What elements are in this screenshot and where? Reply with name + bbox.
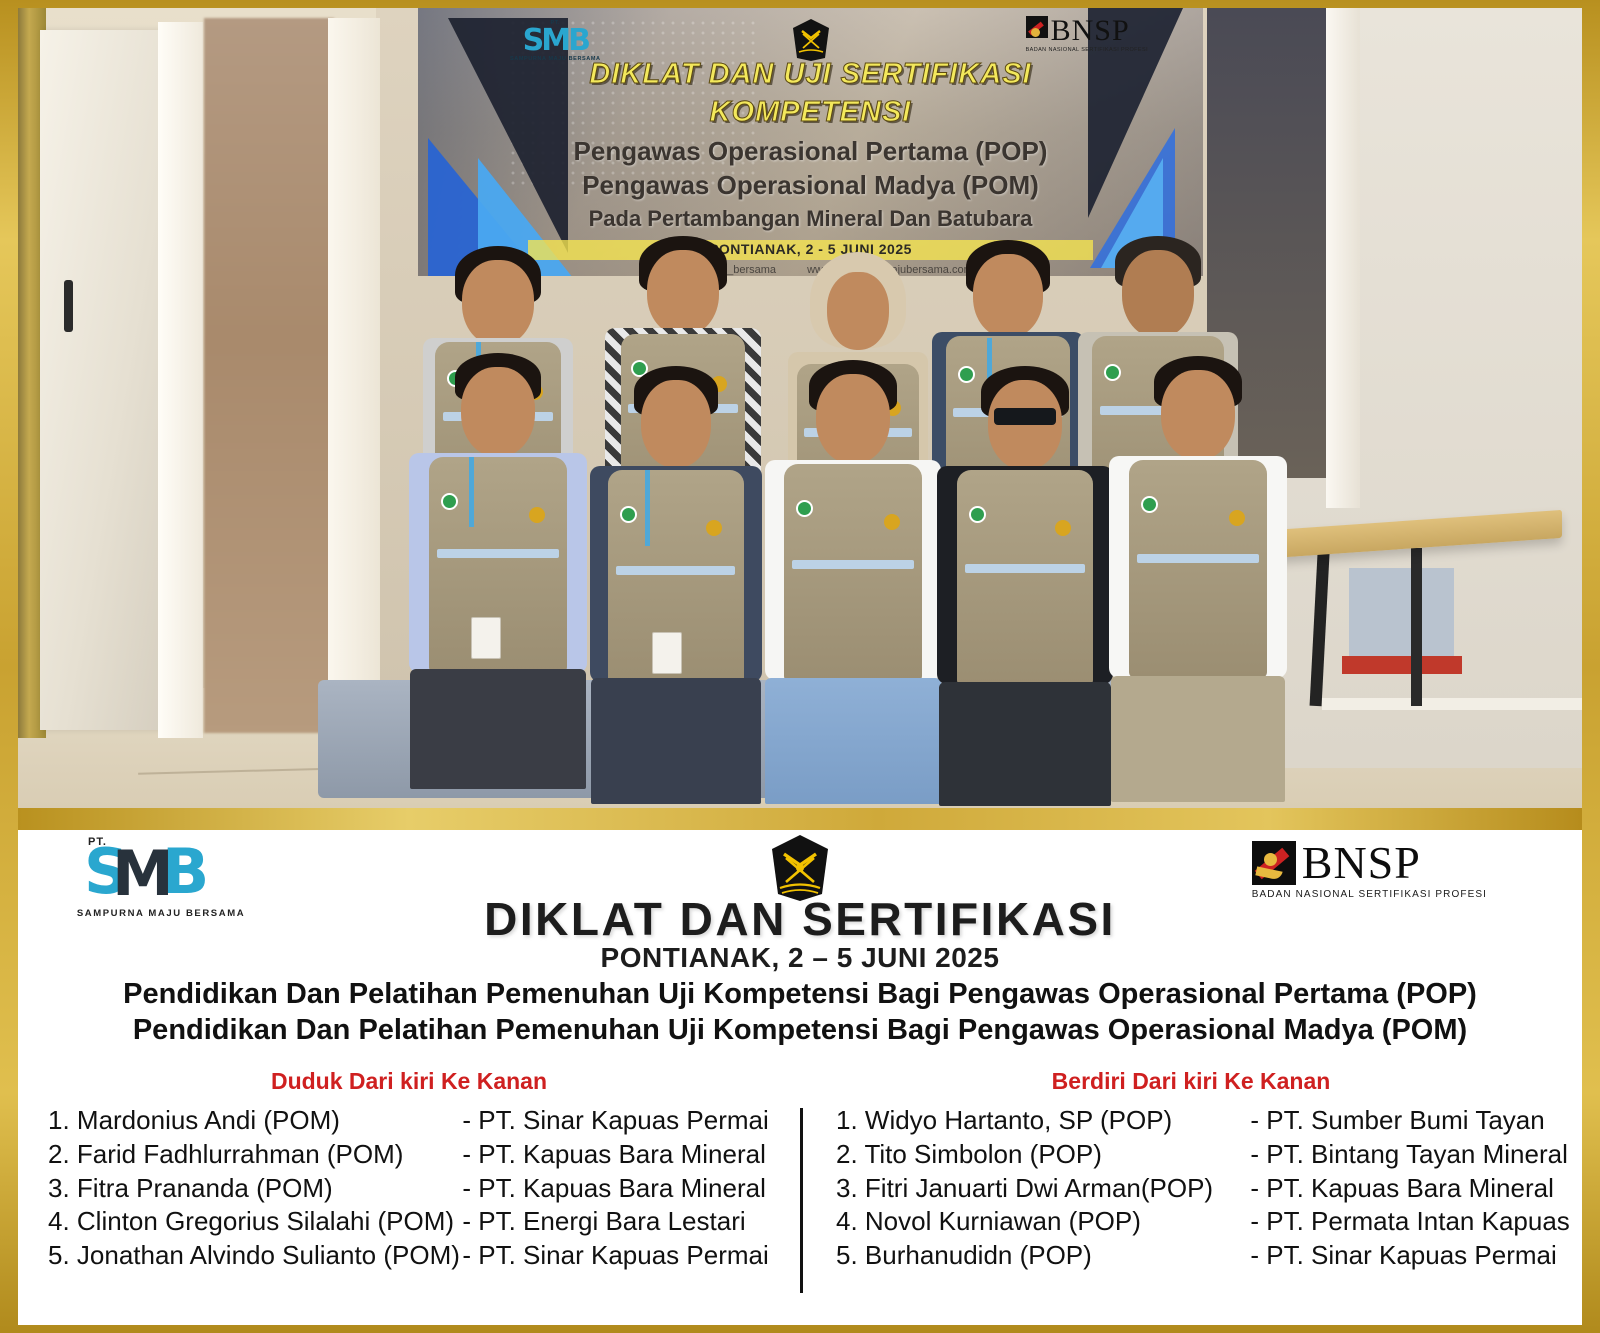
- participant-company: - PT. Permata Intan Kapuas: [1250, 1205, 1576, 1239]
- participant-name: 5. Jonathan Alvindo Sulianto (POM): [48, 1239, 462, 1273]
- vest-reflective-stripe: [437, 549, 558, 558]
- head: [816, 374, 890, 464]
- trousers: [410, 669, 586, 789]
- participant-row: 3. Fitri Januarti Dwi Arman(POP)- PT. Ka…: [836, 1172, 1576, 1206]
- seated-names-list: 1. Mardonius Andi (POM)- PT. Sinar Kapua…: [48, 1104, 788, 1273]
- vest-emblem-badge: [529, 507, 545, 523]
- participant-row: 5. Burhanudidn (POP)- PT. Sinar Kapuas P…: [836, 1239, 1576, 1273]
- poster-root: PT. SMB SAMPURNA MAJU BERSAMA BNSP BADAN…: [0, 0, 1600, 1333]
- info-panel: PT. S B M SAMPURNA MAJU BERSAMA: [18, 830, 1582, 1325]
- vest-emblem-badge: [1229, 510, 1245, 526]
- participant-row: 2. Tito Simbolon (POP)- PT. Bintang Taya…: [836, 1138, 1576, 1172]
- vest-reflective-stripe: [616, 566, 736, 575]
- participant-row: 5. Jonathan Alvindo Sulianto (POM)- PT. …: [48, 1239, 788, 1273]
- vest-emblem-badge: [706, 520, 722, 536]
- head: [988, 380, 1062, 470]
- vest: [1129, 460, 1267, 678]
- sunglasses-icon: [994, 408, 1056, 425]
- gold-divider-band: [18, 808, 1582, 830]
- group-photo: PT. SMB SAMPURNA MAJU BERSAMA BNSP BADAN…: [18, 8, 1582, 808]
- participant-name: 2. Farid Fadhlurrahman (POM): [48, 1138, 462, 1172]
- trousers: [939, 682, 1111, 806]
- participant-name: 1. Mardonius Andi (POM): [48, 1104, 462, 1138]
- participant-name: 3. Fitra Prananda (POM): [48, 1172, 462, 1206]
- participant-company: - PT. Kapuas Bara Mineral: [462, 1172, 788, 1206]
- head: [1122, 250, 1194, 338]
- participant-company: - PT. Energi Bara Lestari: [462, 1205, 788, 1239]
- head: [827, 272, 889, 350]
- bnsp-gold-tail: [1255, 866, 1282, 880]
- head: [1161, 370, 1235, 460]
- vest-green-badge: [441, 493, 458, 510]
- vest: [429, 457, 567, 673]
- vest: [608, 470, 744, 684]
- participant-row: 4. Novol Kurniawan (POP)- PT. Permata In…: [836, 1205, 1576, 1239]
- participant-name: 5. Burhanudidn (POP): [836, 1239, 1250, 1273]
- vest-reflective-stripe: [1137, 554, 1258, 563]
- seated-person-5: [1103, 356, 1293, 776]
- head: [641, 380, 711, 468]
- trousers: [1111, 676, 1285, 802]
- seated-person-2: [583, 366, 768, 776]
- bnsp-gold-dot: [1264, 853, 1277, 866]
- standing-column-header: Berdiri Dari kiri Ke Kanan: [800, 1068, 1582, 1095]
- seated-column-header: Duduk Dari kiri Ke Kanan: [18, 1068, 800, 1095]
- lanyard: [645, 470, 650, 546]
- subtitle-pom: Pendidikan Dan Pelatihan Pemenuhan Uji K…: [18, 1014, 1582, 1047]
- participant-company: - PT. Kapuas Bara Mineral: [462, 1138, 788, 1172]
- vest: [957, 470, 1093, 686]
- vest-emblem-badge: [1055, 520, 1071, 536]
- bnsp-wordmark: BNSP: [1302, 840, 1421, 886]
- event-date: PONTIANAK, 2 – 5 JUNI 2025: [18, 942, 1582, 974]
- participant-row: 3. Fitra Prananda (POM)- PT. Kapuas Bara…: [48, 1172, 788, 1206]
- trousers: [591, 678, 761, 804]
- standing-names-list: 1. Widyo Hartanto, SP (POP)- PT. Sumber …: [836, 1104, 1576, 1273]
- participant-name: 4. Novol Kurniawan (POP): [836, 1205, 1250, 1239]
- vest-green-badge: [620, 506, 637, 523]
- participant-company: - PT. Sinar Kapuas Permai: [1250, 1239, 1576, 1273]
- jeans: [765, 678, 941, 804]
- head: [461, 367, 535, 457]
- seated-person-1: [403, 353, 593, 773]
- participant-company: - PT. Sinar Kapuas Permai: [462, 1104, 788, 1138]
- vest-green-badge: [796, 500, 813, 517]
- vest-reflective-stripe: [965, 564, 1085, 573]
- participant-company: - PT. Bintang Tayan Mineral: [1250, 1138, 1576, 1172]
- vest-emblem-badge: [884, 514, 900, 530]
- seated-person-4: [930, 366, 1120, 778]
- column-divider: [800, 1108, 803, 1293]
- head: [462, 260, 534, 346]
- bnsp-mark-icon: [1252, 841, 1296, 885]
- participant-name: 4. Clinton Gregorius Silalahi (POM): [48, 1205, 462, 1239]
- participant-company: - PT. Kapuas Bara Mineral: [1250, 1172, 1576, 1206]
- participants-group: [18, 8, 1582, 808]
- participant-row: 1. Widyo Hartanto, SP (POP)- PT. Sumber …: [836, 1104, 1576, 1138]
- bnsp-logo: BNSP BADAN NASIONAL SERTIFIKASI PROFESI: [1252, 840, 1487, 900]
- vest-reflective-stripe: [792, 560, 913, 569]
- id-card: [471, 617, 501, 659]
- subtitle-pop: Pendidikan Dan Pelatihan Pemenuhan Uji K…: [18, 978, 1582, 1011]
- vest: [784, 464, 922, 682]
- head: [647, 250, 719, 336]
- participant-company: - PT. Sumber Bumi Tayan: [1250, 1104, 1576, 1138]
- bnsp-logo-row: BNSP: [1252, 840, 1487, 886]
- seated-person-3: [758, 360, 948, 778]
- participant-company: - PT. Sinar Kapuas Permai: [462, 1239, 788, 1273]
- lanyard: [469, 457, 474, 527]
- participant-row: 1. Mardonius Andi (POM)- PT. Sinar Kapua…: [48, 1104, 788, 1138]
- participant-row: 2. Farid Fadhlurrahman (POM)- PT. Kapuas…: [48, 1138, 788, 1172]
- head: [973, 254, 1043, 338]
- participant-row: 4. Clinton Gregorius Silalahi (POM)- PT.…: [48, 1205, 788, 1239]
- participant-name: 3. Fitri Januarti Dwi Arman(POP): [836, 1172, 1250, 1206]
- participant-name: 2. Tito Simbolon (POP): [836, 1138, 1250, 1172]
- id-card: [652, 632, 682, 674]
- participant-name: 1. Widyo Hartanto, SP (POP): [836, 1104, 1250, 1138]
- page-title: DIKLAT DAN SERTIFIKASI: [18, 892, 1582, 946]
- vest-green-badge: [969, 506, 986, 523]
- vest-green-badge: [1141, 496, 1158, 513]
